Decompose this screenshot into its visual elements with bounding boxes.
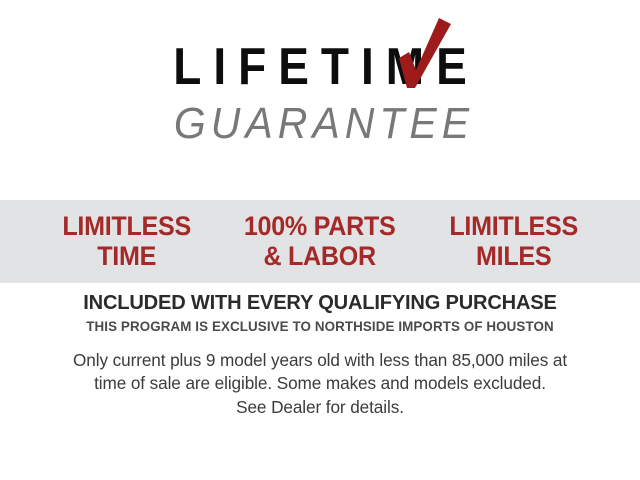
benefit-line-2: MILES	[423, 242, 603, 271]
logo-lifetime-text: LIFETIME	[161, 40, 479, 92]
logo-block: LIFETIME GUARANTEE	[0, 46, 640, 144]
benefit-item-limitless-time: LIMITLESS TIME	[37, 212, 217, 270]
disclaimer-line: See Dealer for details.	[26, 396, 614, 420]
benefit-line-1: LIMITLESS	[62, 211, 191, 241]
logo-guarantee-text: GUARANTEE	[161, 102, 479, 145]
disclaimer-line: Only current plus 9 model years old with…	[26, 349, 614, 373]
subheadline: THIS PROGRAM IS EXCLUSIVE TO NORTHSIDE I…	[10, 319, 631, 334]
benefit-item-parts-labor: 100% PARTS & LABOR	[230, 212, 410, 270]
benefit-line-2: TIME	[37, 242, 217, 271]
benefit-line-2: & LABOR	[230, 242, 410, 271]
copy-block: INCLUDED WITH EVERY QUALIFYING PURCHASE …	[0, 292, 640, 420]
disclaimer-line: time of sale are eligible. Some makes an…	[26, 372, 614, 396]
lifetime-guarantee-ad: LIFETIME GUARANTEE LIMITLESS TIME 100% P…	[0, 0, 640, 480]
benefit-item-limitless-miles: LIMITLESS MILES	[423, 212, 603, 270]
benefit-line-1: 100% PARTS	[244, 211, 396, 241]
disclaimer: Only current plus 9 model years old with…	[0, 349, 640, 420]
headline: INCLUDED WITH EVERY QUALIFYING PURCHASE	[6, 292, 633, 315]
benefits-banner: LIMITLESS TIME 100% PARTS & LABOR LIMITL…	[0, 200, 640, 283]
benefit-line-1: LIMITLESS	[449, 211, 578, 241]
logo-wordmark: LIFETIME GUARANTEE	[161, 46, 479, 144]
